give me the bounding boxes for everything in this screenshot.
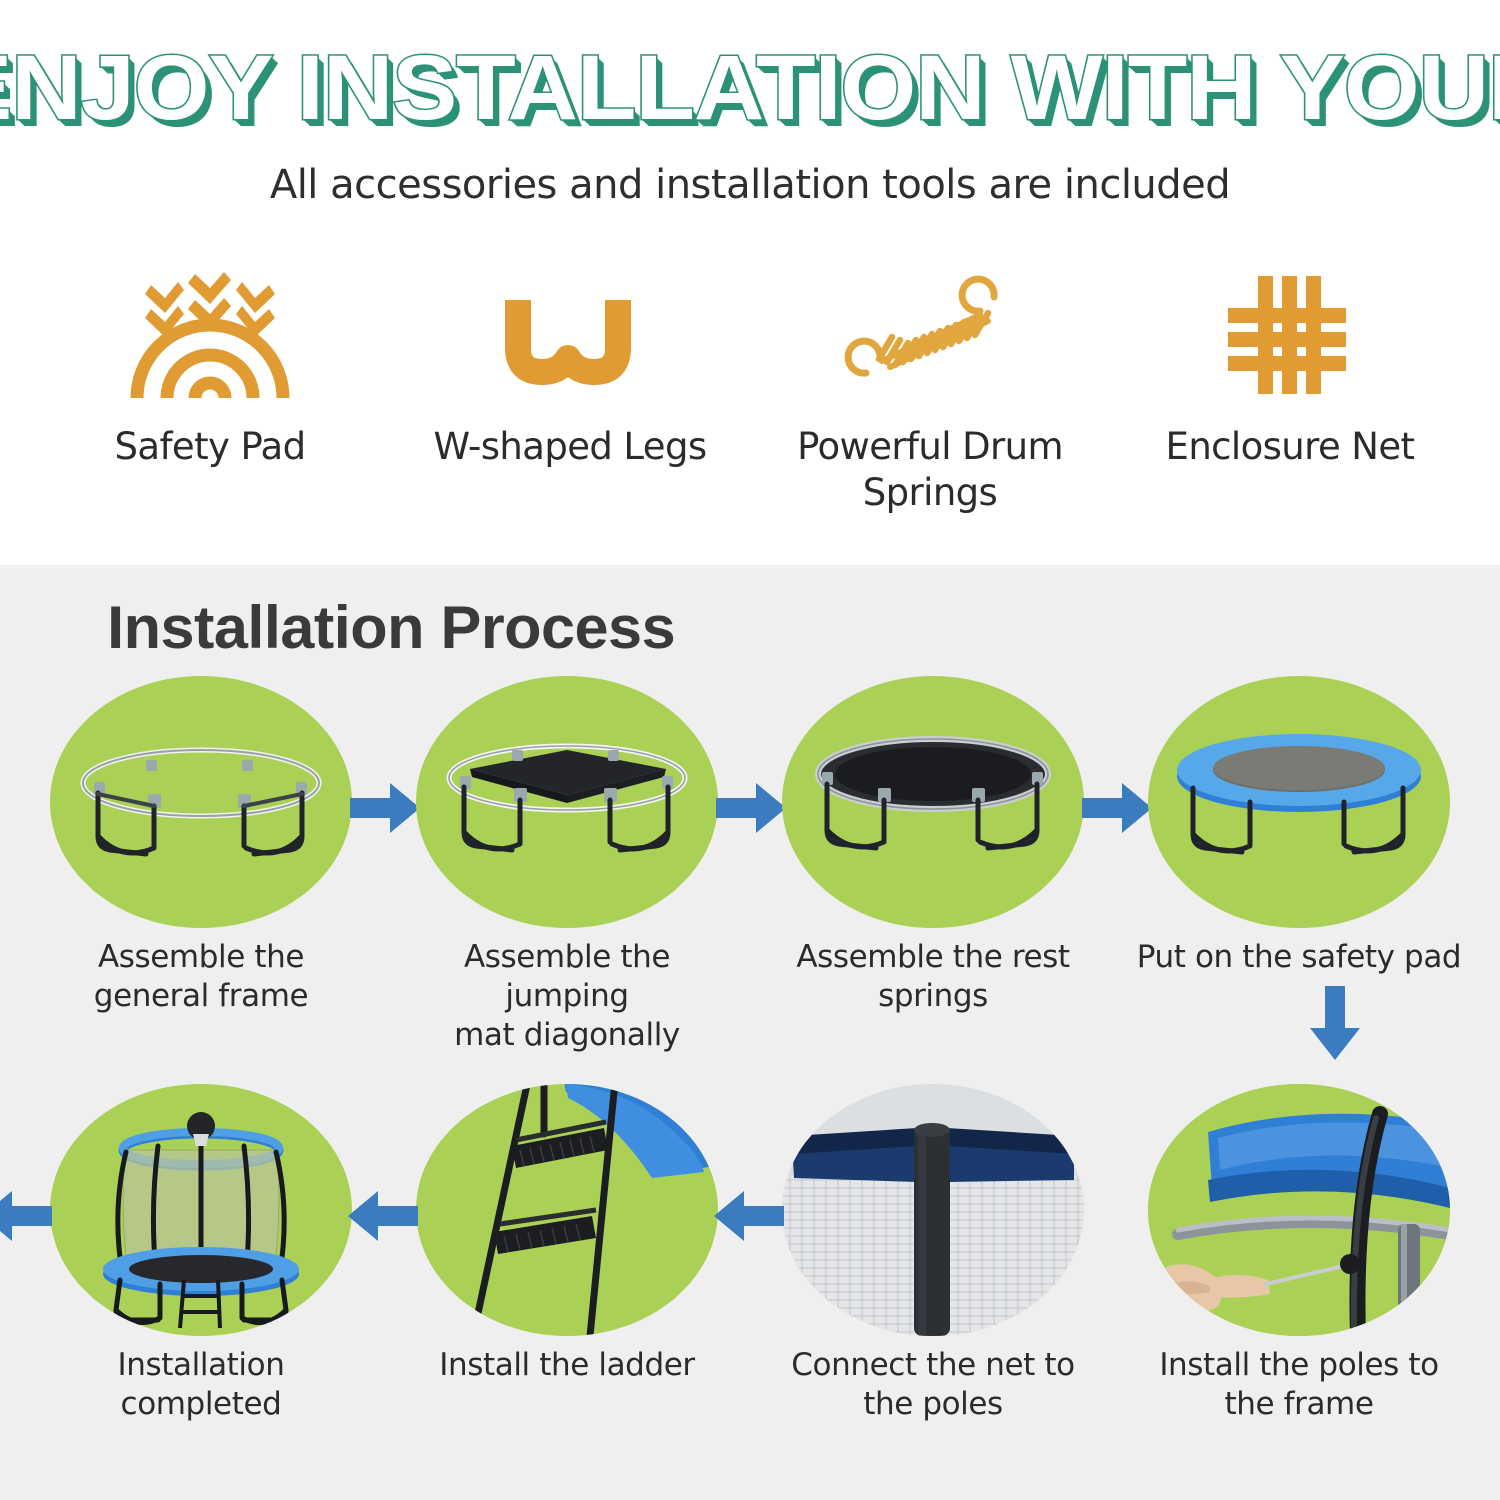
step-caption: Assemble the rest springs: [750, 938, 1116, 1016]
install-step-safety-pad: Put on the safety pad: [1116, 676, 1482, 1054]
feature-list: Safety Pad W-shaped Legs: [0, 260, 1500, 517]
install-step-ladder: Install the ladder: [384, 1084, 750, 1424]
install-step-rest-springs: Assemble the rest springs: [750, 676, 1116, 1054]
page-title: ENJOY INSTALLATION WITH YOUR KIDS: [0, 42, 1500, 134]
install-step-poles-to-frame: Install the poles to the frame: [1116, 1084, 1482, 1424]
subtitle: All accessories and installation tools a…: [0, 162, 1500, 208]
safety-pad-photo: [1148, 676, 1450, 928]
trampoline-frame-photo: [50, 676, 352, 928]
arrow-left-icon: [714, 1189, 784, 1243]
enclosure-net-icon: [1110, 260, 1470, 410]
feature-label: W-shaped Legs: [390, 424, 750, 470]
arrow-down-icon: [1308, 986, 1362, 1060]
install-step-completed: Installation completed: [18, 1084, 384, 1424]
jumping-mat-photo: [416, 676, 718, 928]
feature-item-safety-pad: Safety Pad: [30, 260, 390, 517]
step-caption: Put on the safety pad: [1116, 938, 1482, 977]
safety-pad-icon: [30, 260, 390, 410]
headline-container: ENJOY INSTALLATION WITH YOUR KIDS: [0, 0, 1500, 120]
net-to-poles-photo: [782, 1084, 1084, 1336]
feature-label: Powerful Drum Springs: [750, 424, 1110, 517]
feature-label: Enclosure Net: [1110, 424, 1470, 470]
w-shaped-legs-icon: [390, 260, 750, 410]
springs-attached-photo: [782, 676, 1084, 928]
ladder-photo: [416, 1084, 718, 1336]
feature-item-w-shaped-legs: W-shaped Legs: [390, 260, 750, 517]
step-caption: Install the poles to the frame: [1116, 1346, 1482, 1424]
poles-to-frame-photo: [1148, 1084, 1450, 1336]
step-caption: Assemble the general frame: [18, 938, 384, 1016]
drum-spring-icon: [750, 260, 1110, 410]
feature-item-drum-springs: Powerful Drum Springs: [750, 260, 1110, 517]
install-steps-row-1: Assemble the general frame: [0, 676, 1500, 1054]
arrow-left-icon: [0, 1189, 52, 1243]
step-caption: Connect the net to the poles: [750, 1346, 1116, 1424]
feature-item-enclosure-net: Enclosure Net: [1110, 260, 1470, 517]
hero-section: ENJOY INSTALLATION WITH YOUR KIDS All ac…: [0, 0, 1500, 565]
feature-label: Safety Pad: [30, 424, 390, 470]
section-title: Installation Process: [0, 565, 1500, 662]
install-steps-row-2: Installation completed: [0, 1084, 1500, 1424]
step-caption: Install the ladder: [384, 1346, 750, 1385]
completed-trampoline-photo: [50, 1084, 352, 1336]
step-caption: Assemble the jumping mat diagonally: [384, 938, 750, 1054]
installation-section: Installation Process: [0, 565, 1500, 1500]
install-step-net-to-poles: Connect the net to the poles: [750, 1084, 1116, 1424]
step-caption: Installation completed: [18, 1346, 384, 1424]
arrow-left-icon: [348, 1189, 418, 1243]
install-step-assemble-frame: Assemble the general frame: [18, 676, 384, 1054]
install-step-jumping-mat: Assemble the jumping mat diagonally: [384, 676, 750, 1054]
